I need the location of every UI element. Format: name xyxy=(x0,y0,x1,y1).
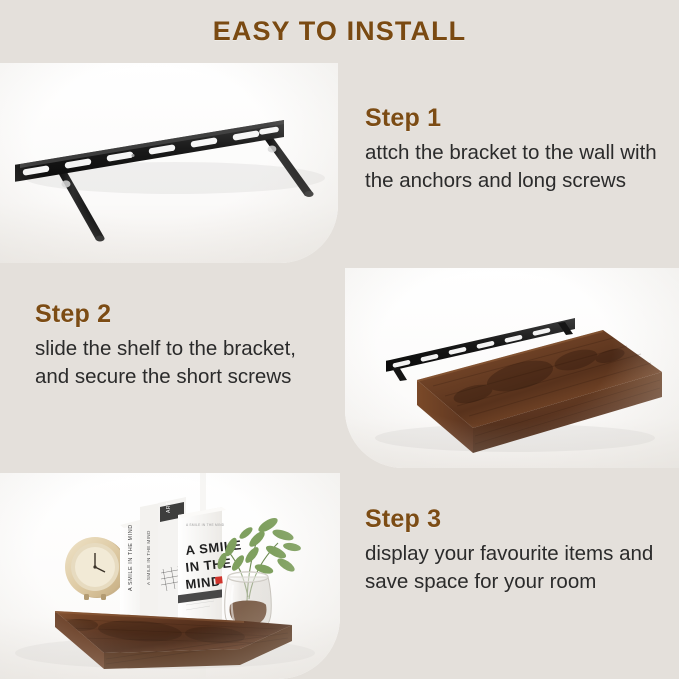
svg-text:A SMILE IN THE MIND: A SMILE IN THE MIND xyxy=(128,524,134,591)
step-2-text-block: Step 2 slide the shelf to the bracket, a… xyxy=(35,300,335,391)
step-3-body: display your favourite items and save sp… xyxy=(365,540,675,596)
shelf-with-bracket-illustration xyxy=(345,268,679,468)
step-1-heading: Step 1 xyxy=(365,104,665,133)
step-1-text-block: Step 1 attch the bracket to the wall wit… xyxy=(365,104,665,195)
step-2-heading: Step 2 xyxy=(35,300,335,329)
styled-shelf-illustration: A SMILE IN THE MIND A SMILE IN THE MIND … xyxy=(0,473,340,679)
page-title: EASY TO INSTALL xyxy=(213,16,467,47)
step-3-heading: Step 3 xyxy=(365,505,675,534)
step-1-photo xyxy=(0,63,338,263)
wall-bracket-illustration xyxy=(0,63,338,263)
step-1-body: attch the bracket to the wall with the a… xyxy=(365,139,665,195)
svg-text:A SMILE IN THE MIND: A SMILE IN THE MIND xyxy=(146,530,151,585)
svg-text:A SMILE IN THE MIND: A SMILE IN THE MIND xyxy=(186,523,225,527)
infographic-page: EASY TO INSTALL xyxy=(0,0,679,679)
step-3-photo: A SMILE IN THE MIND A SMILE IN THE MIND … xyxy=(0,473,340,679)
page-title-bar: EASY TO INSTALL xyxy=(0,0,679,63)
step-3-text-block: Step 3 display your favourite items and … xyxy=(365,505,675,596)
step-2-photo xyxy=(345,268,679,468)
step-2-body: slide the shelf to the bracket, and secu… xyxy=(35,335,335,391)
svg-text:ART: ART xyxy=(166,502,172,513)
